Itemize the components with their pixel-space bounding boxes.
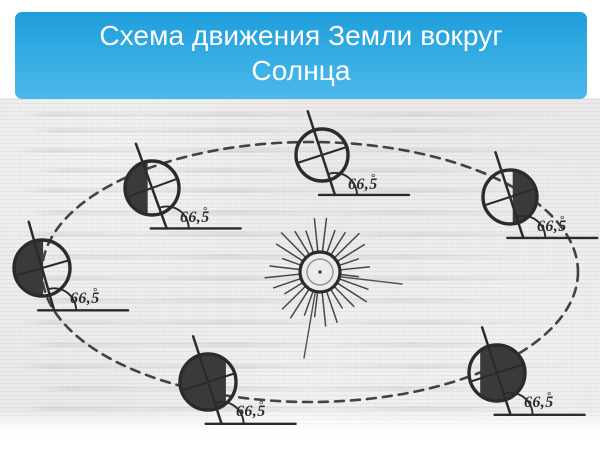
sun-ray [306,231,313,252]
sun-ray [314,219,317,251]
title-banner: Схема движения Земли вокруг Солнца [15,12,587,99]
sun-ray [335,287,354,306]
sun-ray [327,231,335,253]
earth-bottom-right: 66,5° [469,327,585,414]
sun-ray [338,283,367,301]
earth-equator-line [299,148,345,163]
sun-layer [265,219,402,358]
earth-top-center: 66,5° [296,111,409,195]
earth-top-right: 66,5° [483,152,597,238]
sun-ray [341,267,369,270]
sun-ray [282,233,306,257]
degree-sign-icon: ° [371,172,375,184]
sun-ray [338,245,364,261]
degree-sign-icon: ° [259,399,263,411]
degree-sign-icon: ° [547,390,551,402]
sun-center-dot [318,270,321,273]
sun-ray [277,244,303,260]
sun-ray [341,275,358,277]
sun-ray [323,219,327,252]
sun-ray [340,259,358,265]
earth-bottom-center: 66,5° [180,336,296,423]
sun-ray [322,293,325,326]
earth-orbit-diagram: 66,5°66,5°66,5°66,5°66,5°66,5° [0,98,600,436]
sun-ray [265,274,299,278]
earth-left: 66,5° [14,222,128,310]
sun-ray [291,290,309,318]
sun-ray [283,287,305,309]
degree-sign-icon: ° [93,286,97,298]
sun-ray [270,266,299,270]
degree-sign-icon: ° [560,214,564,226]
slide-canvas: 66,5°66,5°66,5°66,5°66,5°66,5° Схема дви… [0,0,600,450]
sun-ray [335,234,359,258]
sun-ray [283,259,300,265]
degree-sign-icon: ° [203,205,207,217]
page-title: Схема движения Земли вокруг Солнца [99,19,502,87]
